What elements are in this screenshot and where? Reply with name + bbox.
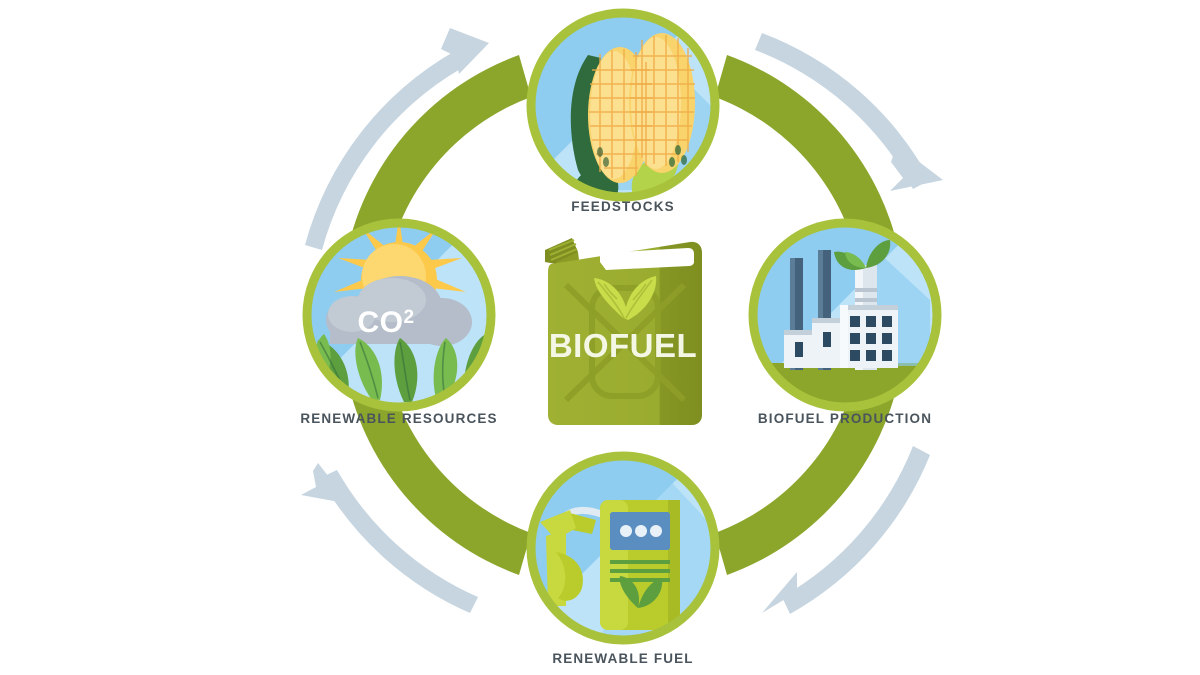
label-renewable-resources: RENEWABLE RESOURCES — [300, 411, 497, 426]
label-biofuel-production: BIOFUEL PRODUCTION — [758, 411, 932, 426]
diagram-canvas: CO2 — [0, 0, 1200, 675]
canister-label: BIOFUEL — [549, 327, 697, 364]
node-biofuel-production[interactable] — [753, 223, 937, 408]
biofuel-cycle-diagram: CO2 — [0, 0, 1200, 675]
node-renewable-fuel[interactable] — [531, 456, 716, 640]
label-feedstocks: FEEDSTOCKS — [571, 199, 675, 214]
node-renewable-resources[interactable]: CO2 — [307, 218, 491, 407]
node-feedstocks[interactable] — [531, 13, 720, 198]
label-renewable-fuel: RENEWABLE FUEL — [552, 651, 693, 666]
biofuel-canister[interactable]: BIOFUEL — [545, 238, 702, 425]
